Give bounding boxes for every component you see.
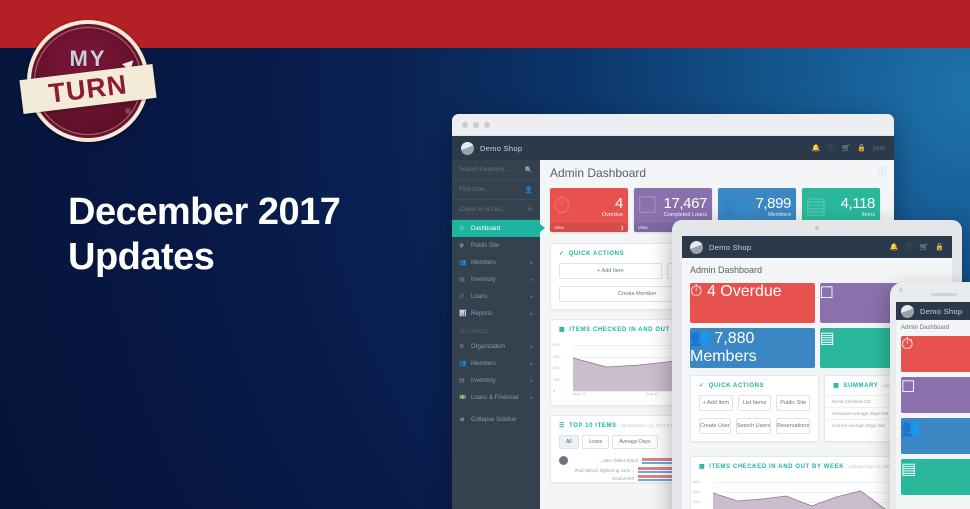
- summary-title: SUMMARY: [843, 383, 878, 389]
- list-icon: ☰: [559, 422, 565, 429]
- sidebar: Search Inventory... 🔍 Find User... 👤 Che…: [452, 136, 540, 509]
- stat-footer-label: View: [638, 225, 648, 230]
- bell-icon[interactable]: 🔔: [812, 144, 821, 152]
- add-item-button[interactable]: + Add Item: [699, 395, 733, 411]
- sidebar-item-label: Reports: [471, 311, 492, 317]
- sidebar-item-label: Members: [471, 260, 496, 266]
- phone-camera-icon: [899, 288, 903, 292]
- members-icon: 👥: [459, 259, 466, 266]
- window-close-icon[interactable]: [462, 122, 468, 128]
- stat-label: Members: [768, 212, 791, 218]
- stat-card-members[interactable]: 👥 7,880 Members: [690, 328, 815, 368]
- stat-value: 4: [615, 195, 623, 212]
- y-tick-450: 450: [553, 354, 560, 359]
- window-maximize-icon[interactable]: [484, 122, 490, 128]
- cart-icon[interactable]: 🛒: [920, 243, 929, 251]
- phone-content: Admin Dashboard ⏱ ☐ 👥 ▤: [896, 320, 970, 505]
- top-items-title: TOP 10 ITEMS: [569, 423, 617, 429]
- loans-icon: ↺: [459, 293, 466, 300]
- loan-icon: ☐: [820, 285, 834, 302]
- sidebar-item-inventory[interactable]: ▤ Inventory ▸: [452, 271, 540, 288]
- clock-icon: ⏱: [690, 283, 702, 300]
- items-icon: ▤: [901, 461, 916, 478]
- list-items-button[interactable]: List Items: [738, 395, 772, 411]
- stat-card-members[interactable]: 👥: [901, 418, 970, 454]
- bolt-icon: ✓: [559, 250, 565, 257]
- phone-screen: Demo Shop ☰ Admin Dashboard ⏱ ☐ 👥: [896, 302, 970, 509]
- create-user-button[interactable]: Create User: [699, 418, 731, 434]
- tablet-dashboard-title: Admin Dashboard: [690, 265, 944, 275]
- app-logo-icon: [461, 142, 474, 155]
- sidebar-item-loans-financial[interactable]: 💵 Loans & Financial ▸: [452, 389, 540, 406]
- y-tick-450: 450: [693, 489, 700, 494]
- lock-icon[interactable]: 🔒: [857, 144, 866, 152]
- sidebar-item-dashboard[interactable]: ☉ Dashboard: [452, 220, 540, 237]
- sidebar-item-label: Inventory: [471, 378, 496, 384]
- app-logo-icon: [690, 241, 703, 254]
- stat-value: 4: [707, 283, 716, 300]
- search-icon: 🔍: [525, 166, 533, 174]
- stat-card-completed-loans[interactable]: ☐: [901, 377, 970, 413]
- user-icon: 👤: [525, 186, 533, 194]
- sidebar-item-label: Members: [471, 361, 496, 367]
- quick-actions-header: ✓ QUICK ACTIONS: [691, 376, 818, 395]
- cart-icon[interactable]: 🛒: [842, 144, 851, 152]
- item-name: iPad (Black) lightening conn...: [559, 468, 634, 473]
- tablet-navbar: Demo Shop 🔔 ⓘ 🛒 🔒: [682, 236, 952, 258]
- chevron-right-icon: ▸: [530, 395, 533, 401]
- sidebar-collapse-label: Collapse Sidebar: [471, 417, 517, 423]
- add-item-button[interactable]: + Add Item: [559, 263, 662, 279]
- y-tick-600: 600: [693, 479, 700, 484]
- tablet-quick-actions-panel: ✓ QUICK ACTIONS + Add Item List Items Pu…: [690, 375, 819, 442]
- globe-icon: ◉: [459, 242, 466, 249]
- check-in-out-input[interactable]: Check In or Out... ⎆: [452, 200, 540, 220]
- stat-value: 4,118: [841, 195, 875, 212]
- quick-actions-row-1: + Add Item List Items Public Site: [691, 395, 818, 418]
- stat-value: 7,880: [714, 330, 754, 347]
- building-icon: ⚙: [459, 343, 466, 350]
- app-logo-icon: [901, 305, 914, 318]
- sidebar-item-public-site[interactable]: ◉ Public Site: [452, 237, 540, 254]
- sidebar-item-reports[interactable]: 📊 Reports ▸: [452, 305, 540, 322]
- chevron-right-icon: ▸: [530, 277, 533, 283]
- y-tick-300: 300: [553, 365, 560, 370]
- phone-mockup: Demo Shop ☰ Admin Dashboard ⏱ ☐ 👥: [890, 282, 970, 509]
- arrow-right-icon: ❯: [620, 225, 624, 231]
- stat-card-overdue[interactable]: ⏱ 4 Overdue View❯: [550, 188, 628, 232]
- sidebar-item-label: Inventory: [471, 277, 496, 283]
- bell-icon[interactable]: 🔔: [890, 243, 899, 251]
- lock-icon[interactable]: 🔒: [935, 243, 944, 251]
- chart-panel-title: ITEMS CHECKED IN AND OUT BY WEEK: [709, 464, 844, 470]
- question-icon[interactable]: ⓘ: [878, 166, 886, 177]
- chart-icon: 📊: [459, 310, 466, 317]
- app-name: Demo Shop: [920, 307, 962, 316]
- sidebar-item-members[interactable]: 👥 Members ▸: [452, 254, 540, 271]
- stat-label: Members: [690, 348, 757, 365]
- help-icon[interactable]: ⓘ: [906, 242, 913, 252]
- find-user-placeholder: Find User...: [459, 187, 525, 193]
- window-minimize-icon[interactable]: [473, 122, 479, 128]
- quick-actions-title: QUICK ACTIONS: [709, 383, 765, 389]
- sidebar-settings-heading: SETTINGS: [452, 322, 540, 338]
- marketing-banner: MY TURN ® December 2017 Updates Demo Sho…: [0, 0, 970, 509]
- app-name: Demo Shop: [709, 243, 751, 252]
- browser-chrome: [452, 114, 894, 136]
- dashboard-icon: ☉: [459, 225, 466, 232]
- sidebar-item-label: Loans & Financial: [471, 395, 519, 401]
- x-tick: Aug 12: [573, 391, 586, 396]
- stat-card-overdue[interactable]: ⏱ 4 Overdue: [690, 283, 815, 323]
- search-inventory-placeholder: Search Inventory...: [459, 167, 525, 173]
- stat-footer[interactable]: View❯: [550, 223, 628, 232]
- device-mockups: Demo Shop 🔔 ⓘ 🛒 🔒 josh Search Inventory.…: [440, 104, 970, 509]
- help-icon[interactable]: ⓘ: [828, 143, 835, 153]
- checkout-icon: ⎆: [528, 206, 533, 214]
- people-icon: 👥: [901, 420, 921, 437]
- find-user-input[interactable]: Find User... 👤: [452, 180, 540, 200]
- sidebar-item-settings-members[interactable]: 👥 Members ▸: [452, 355, 540, 372]
- sidebar-item-label: Loans: [471, 294, 487, 300]
- chevron-right-icon: ▸: [530, 378, 533, 384]
- clock-icon: ⏱: [901, 336, 913, 353]
- tab-average-days[interactable]: Average Days: [612, 435, 657, 449]
- box-icon: ▤: [459, 377, 466, 384]
- app-navbar: Demo Shop 🔔 ⓘ 🛒 🔒 josh: [452, 136, 894, 160]
- loan-icon: ☐: [901, 379, 915, 396]
- chevron-right-icon: ▸: [530, 361, 533, 367]
- items-icon: ▤: [805, 192, 827, 219]
- tablet-camera-icon: [815, 226, 819, 230]
- x-tick: Aug 19: [646, 391, 659, 396]
- stat-value: 17,467: [664, 195, 707, 212]
- people-icon: 👥: [690, 330, 710, 347]
- money-icon: 💵: [459, 394, 466, 401]
- user-menu[interactable]: josh: [873, 145, 885, 152]
- navbar-icon-group: 🔔 ⓘ 🛒 🔒 josh: [812, 143, 885, 153]
- stat-label: Overdue: [602, 212, 623, 218]
- phone-dashboard-title: Admin Dashboard: [901, 325, 970, 331]
- tab-loans[interactable]: Loans: [582, 435, 610, 449]
- y-tick-300: 300: [693, 499, 700, 504]
- chevron-right-icon: ▸: [530, 344, 533, 350]
- sidebar-collapse-button[interactable]: ◀ Collapse Sidebar: [452, 411, 540, 428]
- stat-card-overdue[interactable]: ⏱: [901, 336, 970, 372]
- quick-actions-row-2: Create User Search Users Reservations: [691, 418, 818, 441]
- page-title: December 2017 Updates: [68, 190, 340, 280]
- collapse-icon: ◀: [459, 416, 466, 423]
- phone-navbar: Demo Shop ☰: [896, 302, 970, 320]
- avatar: [559, 456, 568, 465]
- stat-footer-label: View: [554, 225, 564, 230]
- sidebar-item-organization[interactable]: ⚙ Organization ▸: [452, 338, 540, 355]
- stat-value: 7,899: [755, 195, 791, 212]
- tab-all[interactable]: All: [559, 435, 579, 449]
- sidebar-item-loans[interactable]: ↺ Loans ▸: [452, 288, 540, 305]
- chevron-right-icon: ▸: [530, 260, 533, 266]
- dashboard-title: Admin Dashboard: [550, 166, 894, 180]
- app-name: Demo Shop: [480, 144, 522, 153]
- logo-registered-mark: ®: [125, 107, 131, 116]
- bar-chart-icon: ▩: [559, 326, 565, 333]
- bolt-icon: ✓: [699, 382, 705, 389]
- reservations-button[interactable]: Reservations: [776, 418, 810, 434]
- box-icon: ▤: [459, 276, 466, 283]
- search-inventory-input[interactable]: Search Inventory... 🔍: [452, 160, 540, 180]
- summary-icon: ▦: [833, 382, 839, 389]
- quick-actions-title: QUICK ACTIONS: [569, 251, 625, 257]
- people-icon: 👥: [721, 192, 750, 219]
- sidebar-item-settings-inventory[interactable]: ▤ Inventory ▸: [452, 372, 540, 389]
- myturn-logo: MY TURN ®: [27, 20, 149, 142]
- stat-label: Completed Loans: [664, 212, 707, 218]
- public-site-button[interactable]: Public Site: [776, 395, 810, 411]
- navbar-icon-group: 🔔 ⓘ 🛒 🔒: [890, 242, 944, 252]
- item-name: ...ustic Tablet Stand: [572, 458, 638, 463]
- y-tick-600: 600: [553, 342, 560, 347]
- check-in-out-placeholder: Check In or Out...: [459, 207, 528, 213]
- stat-label: Overdue: [720, 283, 781, 300]
- item-name: Oculus Rift: [559, 476, 634, 481]
- y-tick-150: 150: [553, 377, 560, 382]
- bar-chart-icon: ▩: [699, 463, 705, 470]
- phone-speaker: [931, 293, 957, 296]
- clock-icon: ⏱: [553, 192, 571, 219]
- items-icon: ▤: [820, 330, 835, 347]
- chevron-right-icon: ▸: [530, 294, 533, 300]
- stat-card-items[interactable]: ▤: [901, 459, 970, 495]
- chevron-right-icon: ▸: [530, 311, 533, 317]
- members-icon: 👥: [459, 360, 466, 367]
- sidebar-item-label: Dashboard: [471, 226, 500, 232]
- loan-icon: ☐: [637, 192, 658, 219]
- search-users-button[interactable]: Search Users: [736, 418, 771, 434]
- sidebar-item-label: Organization: [471, 344, 505, 350]
- sidebar-item-label: Public Site: [471, 243, 499, 249]
- stat-label: Items: [862, 212, 875, 218]
- y-tick-0: 0: [553, 388, 555, 393]
